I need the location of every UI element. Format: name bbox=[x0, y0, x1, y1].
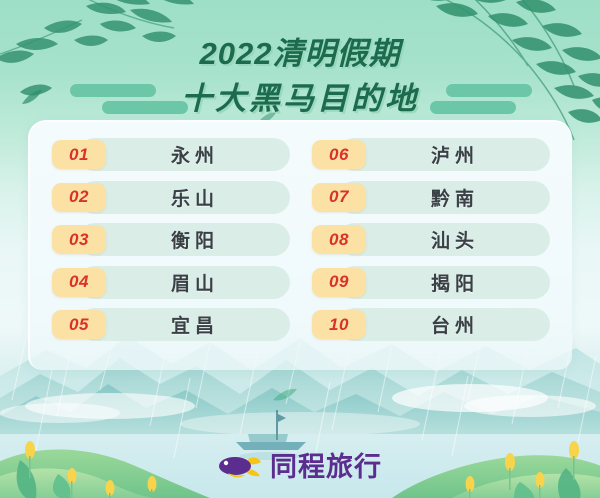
rank-badge: 08 bbox=[312, 225, 366, 254]
rank-badge: 06 bbox=[312, 140, 366, 169]
rank-badge: 05 bbox=[52, 310, 106, 339]
city-name: 汕头 bbox=[366, 226, 550, 253]
rank-badge: 07 bbox=[312, 183, 366, 212]
list-item[interactable]: 09 揭阳 bbox=[312, 266, 550, 299]
city-name: 泸州 bbox=[366, 141, 550, 168]
ranking-column-right: 06 泸州 07 黔南 08 汕头 09 揭阳 bbox=[312, 138, 550, 354]
footer-brand[interactable]: 同程旅行 bbox=[0, 445, 600, 484]
ranking-column-left: 01 永州 02 乐山 03 衡阳 04 眉山 bbox=[52, 138, 290, 354]
city-name: 揭阳 bbox=[366, 269, 550, 296]
list-item[interactable]: 05 宜昌 bbox=[52, 308, 290, 341]
rank-badge: 04 bbox=[52, 268, 106, 297]
poster-header: 2022清明假期 十大黑马目的地 bbox=[0, 0, 600, 130]
ranking-card: 01 永州 02 乐山 03 衡阳 04 眉山 bbox=[28, 120, 572, 370]
list-item[interactable]: 02 乐山 bbox=[52, 181, 290, 214]
list-item[interactable]: 08 汕头 bbox=[312, 223, 550, 256]
city-name: 衡阳 bbox=[106, 226, 290, 253]
city-name: 乐山 bbox=[106, 184, 290, 211]
list-item[interactable]: 10 台州 bbox=[312, 308, 550, 341]
rank-badge: 10 bbox=[312, 310, 366, 339]
poster-root: 2022清明假期 十大黑马目的地 01 永州 02 乐山 03 衡阳 bbox=[0, 0, 600, 498]
city-name: 永州 bbox=[106, 141, 290, 168]
city-name: 宜昌 bbox=[106, 311, 290, 338]
bird-mascot-icon bbox=[218, 451, 262, 479]
city-name: 黔南 bbox=[366, 184, 550, 211]
poster-title-line1: 2022清明假期 bbox=[0, 28, 600, 73]
list-item[interactable]: 04 眉山 bbox=[52, 266, 290, 299]
city-name: 台州 bbox=[366, 311, 550, 338]
rank-badge: 01 bbox=[52, 140, 106, 169]
list-item[interactable]: 07 黔南 bbox=[312, 181, 550, 214]
rank-badge: 09 bbox=[312, 268, 366, 297]
rank-badge: 02 bbox=[52, 183, 106, 212]
rank-badge: 03 bbox=[52, 225, 106, 254]
list-item[interactable]: 06 泸州 bbox=[312, 138, 550, 171]
city-name: 眉山 bbox=[106, 269, 290, 296]
list-item[interactable]: 01 永州 bbox=[52, 138, 290, 171]
brand-name: 同程旅行 bbox=[270, 445, 382, 484]
poster-title-line2: 十大黑马目的地 bbox=[0, 73, 600, 118]
list-item[interactable]: 03 衡阳 bbox=[52, 223, 290, 256]
